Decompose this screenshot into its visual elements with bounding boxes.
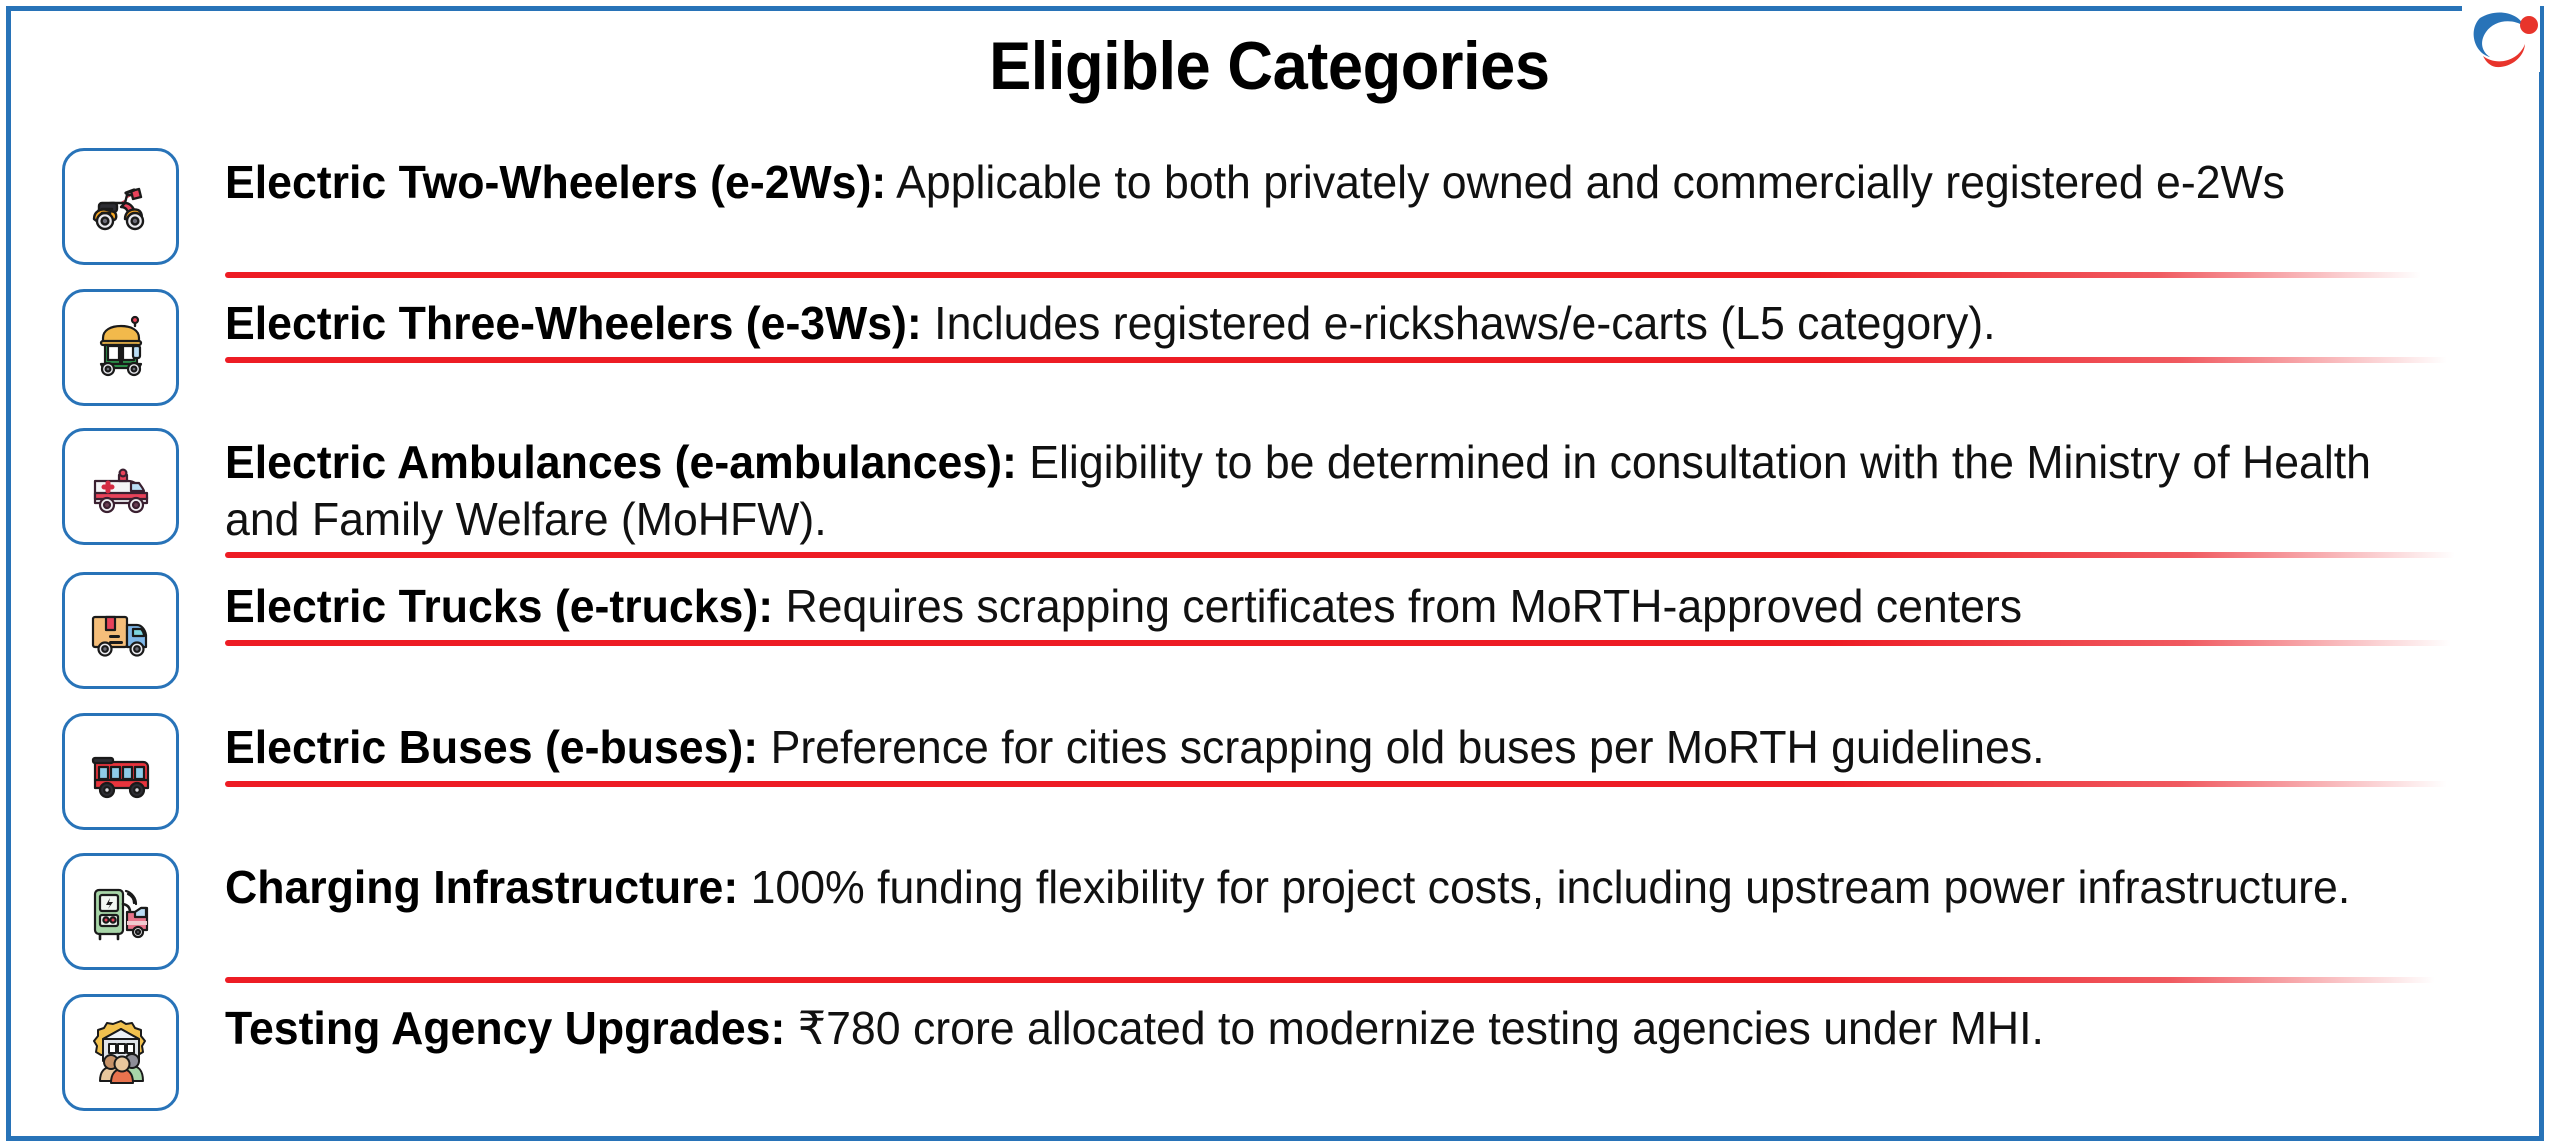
categories-list: Electric Two-Wheelers (e-2Ws): Applicabl…	[0, 148, 2538, 1111]
row-lead: Charging Infrastructure:	[225, 861, 738, 913]
row-separator	[225, 272, 2421, 278]
row-text: Electric Ambulances (e-ambulances): Elig…	[225, 434, 2455, 548]
row-lead: Testing Agency Upgrades:	[225, 1002, 785, 1054]
row-text: Electric Buses (e-buses): Preference for…	[225, 719, 2455, 776]
scooter-icon	[81, 167, 161, 247]
ambulance-icon-box	[62, 428, 179, 545]
delivery-truck-icon-box	[62, 572, 179, 689]
auto-rickshaw-icon-box	[62, 289, 179, 406]
brand-logo-icon	[2462, 4, 2540, 72]
scooter-icon-box	[62, 148, 179, 265]
brand-logo	[2462, 4, 2540, 72]
ambulance-icon	[81, 447, 161, 527]
list-item: Testing Agency Upgrades: ₹780 crore allo…	[62, 994, 2524, 1111]
row-text: Electric Trucks (e-trucks): Requires scr…	[225, 578, 2455, 635]
row-text-wrap: Electric Two-Wheelers (e-2Ws): Applicabl…	[225, 148, 2524, 211]
row-lead: Electric Trucks (e-trucks):	[225, 580, 773, 632]
list-item: Electric Three-Wheelers (e-3Ws): Include…	[62, 289, 2524, 406]
row-text-wrap: Electric Ambulances (e-ambulances): Elig…	[225, 428, 2524, 548]
row-text-wrap: Charging Infrastructure: 100% funding fl…	[225, 853, 2524, 916]
row-body: Applicable to both privately owned and c…	[886, 156, 2285, 208]
testing-agency-icon-box	[62, 994, 179, 1111]
row-body: 100% funding flexibility for project cos…	[738, 861, 2350, 913]
row-text-wrap: Electric Three-Wheelers (e-3Ws): Include…	[225, 289, 2524, 352]
row-body: ₹780 crore allocated to modernize testin…	[785, 1002, 2044, 1054]
row-separator	[225, 357, 2447, 363]
ev-charging-station-icon-box	[62, 853, 179, 970]
row-text: Charging Infrastructure: 100% funding fl…	[225, 859, 2455, 916]
row-separator	[225, 977, 2435, 983]
row-body: Requires scrapping certificates from MoR…	[773, 580, 2022, 632]
row-text: Electric Two-Wheelers (e-2Ws): Applicabl…	[225, 154, 2455, 211]
slide-canvas: Eligible Categories	[0, 0, 2550, 1147]
delivery-truck-icon	[81, 591, 161, 671]
auto-rickshaw-icon	[81, 308, 161, 388]
row-separator	[225, 781, 2447, 787]
row-lead: Electric Two-Wheelers (e-2Ws):	[225, 156, 886, 208]
row-separator	[225, 552, 2455, 558]
row-lead: Electric Ambulances (e-ambulances):	[225, 436, 1017, 488]
page-title-container: Eligible Categories	[0, 26, 2538, 106]
testing-agency-icon	[81, 1013, 161, 1093]
bus-icon	[81, 732, 161, 812]
ev-charging-station-icon	[81, 872, 161, 952]
row-separator	[225, 640, 2451, 646]
row-text-wrap: Testing Agency Upgrades: ₹780 crore allo…	[225, 994, 2524, 1057]
page-title: Eligible Categories	[989, 26, 1549, 106]
row-body: Includes registered e-rickshaws/e-carts …	[922, 297, 1996, 349]
bus-icon-box	[62, 713, 179, 830]
list-item: Electric Buses (e-buses): Preference for…	[62, 713, 2524, 830]
row-lead: Electric Three-Wheelers (e-3Ws):	[225, 297, 922, 349]
row-text-wrap: Electric Trucks (e-trucks): Requires scr…	[225, 572, 2524, 635]
row-text: Electric Three-Wheelers (e-3Ws): Include…	[225, 295, 2455, 352]
list-item: Electric Two-Wheelers (e-2Ws): Applicabl…	[62, 148, 2524, 265]
list-item: Charging Infrastructure: 100% funding fl…	[62, 853, 2524, 970]
list-item: Electric Ambulances (e-ambulances): Elig…	[62, 428, 2524, 548]
row-lead: Electric Buses (e-buses):	[225, 721, 758, 773]
row-text-wrap: Electric Buses (e-buses): Preference for…	[225, 713, 2524, 776]
row-text: Testing Agency Upgrades: ₹780 crore allo…	[225, 1000, 2455, 1057]
row-body: Preference for cities scrapping old buse…	[758, 721, 2044, 773]
list-item: Electric Trucks (e-trucks): Requires scr…	[62, 572, 2524, 689]
